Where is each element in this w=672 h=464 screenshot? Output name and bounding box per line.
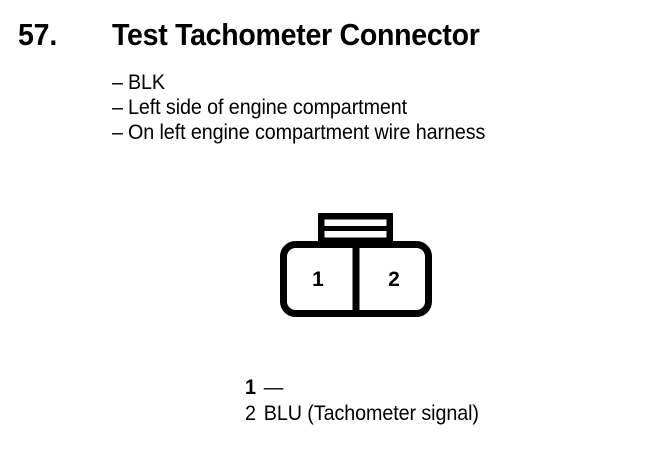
- descriptor-item-2: –On left engine compartment wire harness: [112, 120, 620, 145]
- pin-legend-row: 2BLU (Tachometer signal): [245, 401, 621, 427]
- document-page: 57. Test Tachometer Connector –BLK –Left…: [0, 0, 672, 464]
- connector-cavity-2-number: 2: [388, 268, 400, 291]
- pin-legend-description: BLU (Tachometer signal): [264, 401, 479, 427]
- descriptor-text: Left side of engine compartment: [128, 96, 407, 119]
- page-heading: 57. Test Tachometer Connector: [0, 16, 672, 58]
- pin-legend-number: 2: [245, 401, 264, 427]
- descriptor-text: On left engine compartment wire harness: [128, 121, 485, 144]
- descriptor-item-0: –BLK: [112, 70, 620, 95]
- page-title: Test Tachometer Connector: [112, 16, 480, 54]
- connector-cavity-divider: [353, 241, 360, 317]
- pin-legend-number: 1: [245, 375, 264, 401]
- connector-illustration: 1 2: [272, 205, 442, 325]
- pin-legend: 1— 2BLU (Tachometer signal): [245, 375, 645, 427]
- connector-diagram: 1 2: [272, 205, 442, 325]
- pin-legend-row: 1—: [245, 375, 621, 401]
- descriptor-dash-icon: –: [112, 95, 128, 120]
- connector-latch-tab: [318, 213, 393, 245]
- descriptor-text: BLK: [128, 71, 165, 94]
- descriptor-dash-icon: –: [112, 120, 128, 145]
- descriptor-dash-icon: –: [112, 70, 128, 95]
- heading-item-number: 57.: [18, 16, 57, 54]
- connector-cavity-1-number: 1: [312, 268, 324, 291]
- descriptor-list: –BLK –Left side of engine compartment –O…: [112, 70, 652, 145]
- descriptor-item-1: –Left side of engine compartment: [112, 95, 620, 120]
- pin-legend-description: —: [264, 375, 284, 401]
